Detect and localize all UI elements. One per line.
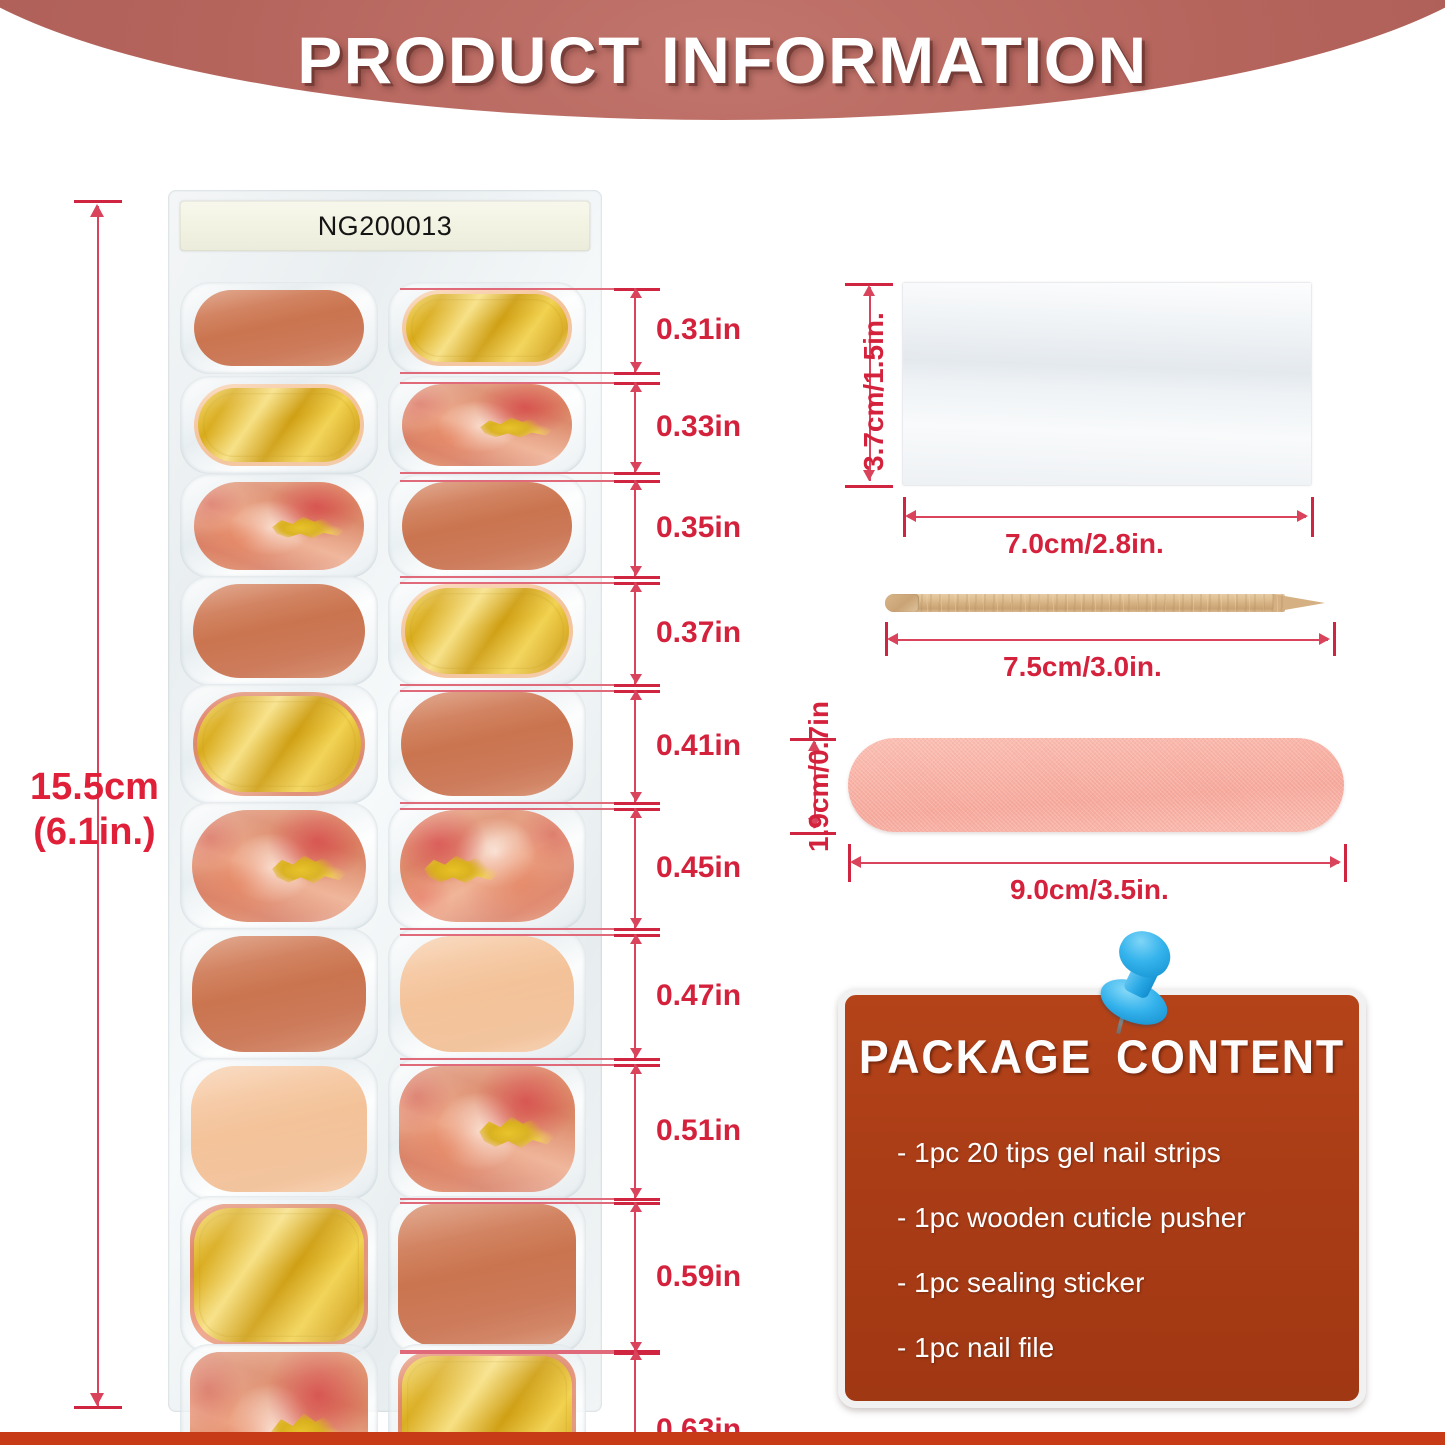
nail-strip-cell xyxy=(388,928,586,1060)
nail-strip xyxy=(400,936,574,1052)
strip-dimension: 0.51in xyxy=(634,1064,646,1198)
dimension-arrow-up-icon xyxy=(630,382,642,392)
dimension-arrow-down-icon xyxy=(630,1188,642,1198)
measurement-tick xyxy=(614,684,660,687)
strip-holder xyxy=(194,290,364,366)
height-arrow-down-icon xyxy=(90,1393,104,1406)
gold-foil-outline xyxy=(194,1208,364,1342)
nail-strip-cell xyxy=(388,684,586,804)
dimension-arrow-down-icon xyxy=(630,566,642,576)
nail-strip-cell xyxy=(180,282,378,374)
dimension-line xyxy=(634,690,636,802)
strip-holder xyxy=(192,936,366,1052)
nail-strip xyxy=(194,384,364,466)
gold-foil-outline xyxy=(405,588,569,674)
sticker-width-line xyxy=(908,516,1306,518)
pushpin-icon xyxy=(1089,932,1183,1036)
nail-strip xyxy=(194,290,364,366)
measurement-leader-line xyxy=(400,934,618,936)
nail-file-image xyxy=(848,738,1344,832)
measurement-leader-line xyxy=(400,808,618,810)
strip-dimension: 0.59in xyxy=(634,1202,646,1352)
strip-measurement-label: 0.47in xyxy=(656,979,741,1013)
package-content-card: PACKAGE CONTENT - 1pc 20 tips gel nail s… xyxy=(838,988,1366,1408)
strip-holder xyxy=(401,692,573,796)
pusher-bevel-end xyxy=(885,594,919,612)
nail-strip-cell xyxy=(388,474,586,578)
page-title: PRODUCT INFORMATION xyxy=(0,0,1445,120)
nail-strip-cell xyxy=(388,576,586,686)
measurement-leader-line xyxy=(400,372,618,374)
strip-dimension: 0.45in xyxy=(634,808,646,928)
strip-measurement-label: 0.41in xyxy=(656,729,741,763)
dimension-arrow-up-icon xyxy=(630,288,642,298)
nail-strip xyxy=(193,692,365,796)
file-arrow-left-icon xyxy=(850,856,861,868)
nail-strip xyxy=(194,482,364,570)
pusher-width-label: 7.5cm/3.0in. xyxy=(1003,651,1162,683)
strip-gloss xyxy=(194,290,364,366)
strip-holder xyxy=(402,290,572,366)
dimension-arrow-up-icon xyxy=(630,808,642,818)
measurement-tick xyxy=(614,802,660,805)
nail-strip-cell xyxy=(180,1196,378,1354)
dimension-arrow-down-icon xyxy=(630,362,642,372)
strip-holder xyxy=(401,584,573,678)
strip-dimension: 0.41in xyxy=(634,690,646,802)
product-information-infographic: PRODUCT INFORMATION 15.5cm (6.1in.) NG20… xyxy=(0,0,1445,1445)
gold-foil-outline xyxy=(197,696,361,792)
dimension-arrow-down-icon xyxy=(630,462,642,472)
nail-strip-cell xyxy=(388,1344,586,1445)
pusher-w-cap-right xyxy=(1333,622,1336,656)
strip-holder xyxy=(191,1066,367,1192)
package-content-list: - 1pc 20 tips gel nail strips- 1pc woode… xyxy=(897,1137,1337,1397)
pusher-arrow-right-icon xyxy=(1319,633,1330,645)
dimension-arrow-up-icon xyxy=(630,690,642,700)
dimension-arrow-down-icon xyxy=(630,1048,642,1058)
dimension-arrow-up-icon xyxy=(630,1202,642,1212)
strip-holder xyxy=(402,384,572,466)
nail-strip-cell xyxy=(180,576,378,686)
dimension-line xyxy=(634,808,636,928)
measurement-tick xyxy=(614,576,660,579)
product-code-label: NG200013 xyxy=(180,201,590,251)
pusher-arrow-left-icon xyxy=(887,633,898,645)
strip-measurement-label: 0.31in xyxy=(656,313,741,347)
strip-holder xyxy=(398,1204,576,1346)
gold-foil-flake xyxy=(269,844,349,896)
nail-strip-grid xyxy=(176,264,594,1404)
nail-strip-cell xyxy=(180,684,378,804)
strip-gloss xyxy=(192,936,366,1052)
nail-strip xyxy=(400,810,574,922)
nail-strip xyxy=(402,384,572,466)
dimension-line xyxy=(634,582,636,684)
strip-gloss xyxy=(398,1204,576,1346)
gold-foil-flake xyxy=(421,844,501,896)
measurement-leader-line xyxy=(400,1058,618,1060)
strip-dimension: 0.33in xyxy=(634,382,646,472)
dimension-arrow-down-icon xyxy=(630,792,642,802)
strip-gloss xyxy=(400,810,574,922)
dimension-arrow-up-icon xyxy=(630,1350,642,1360)
sticker-width-label: 7.0cm/2.8in. xyxy=(1005,528,1164,560)
file-height-label: 1.9cm/0.7in xyxy=(803,701,835,852)
measurement-tick xyxy=(614,928,660,931)
nail-strip-cell xyxy=(388,376,586,474)
measurement-leader-line xyxy=(400,802,618,804)
strip-gloss xyxy=(191,1066,367,1192)
dimension-line xyxy=(634,934,636,1058)
strip-gloss xyxy=(192,810,366,922)
measurement-leader-line xyxy=(400,1198,618,1200)
strip-holder xyxy=(190,1204,368,1346)
dimension-line xyxy=(634,480,636,576)
strip-measurement-label: 0.33in xyxy=(656,410,741,444)
strip-measurement-label: 0.59in xyxy=(656,1260,741,1294)
measurement-leader-line xyxy=(400,1202,618,1204)
strip-holder xyxy=(400,810,574,922)
dimension-line xyxy=(634,1350,636,1445)
pushpin-head xyxy=(1112,923,1178,985)
nail-strip xyxy=(402,290,572,366)
measurement-leader-line xyxy=(400,382,618,384)
sticker-arrow-down-icon xyxy=(863,470,875,481)
strip-holder xyxy=(399,1066,575,1192)
footer-bar xyxy=(0,1432,1445,1445)
nail-strip xyxy=(190,1204,368,1346)
nail-strip-cell xyxy=(180,802,378,930)
package-content-item: - 1pc sealing sticker xyxy=(897,1267,1337,1299)
measurement-leader-line xyxy=(400,576,618,578)
height-cap-bottom xyxy=(74,1406,122,1409)
measurement-leader-line xyxy=(400,288,618,290)
strip-holder xyxy=(192,810,366,922)
strip-holder xyxy=(402,482,572,570)
pusher-width-line xyxy=(890,639,1328,641)
dimension-line xyxy=(634,1202,636,1352)
nail-strip xyxy=(399,1066,575,1192)
nail-strip xyxy=(191,1066,367,1192)
nail-strip-cell xyxy=(388,1196,586,1354)
nail-strip xyxy=(192,936,366,1052)
strip-measurement-label: 0.37in xyxy=(656,616,741,650)
measurement-leader-line xyxy=(400,928,618,930)
sticker-w-cap-right xyxy=(1311,497,1314,537)
sticker-arrow-right-icon xyxy=(1297,510,1308,522)
strip-dimension: 0.37in xyxy=(634,582,646,684)
nail-strip-cell xyxy=(388,1058,586,1200)
nail-strip xyxy=(401,692,573,796)
nail-file-grit-texture xyxy=(848,738,1344,832)
dimension-arrow-up-icon xyxy=(630,1064,642,1074)
nail-strip-cell xyxy=(180,1344,378,1445)
cuticle-pusher-image xyxy=(885,590,1325,616)
package-content-item: - 1pc wooden cuticle pusher xyxy=(897,1202,1337,1234)
dimension-arrow-up-icon xyxy=(630,582,642,592)
measurement-leader-line xyxy=(400,684,618,686)
strip-dimension: 0.47in xyxy=(634,934,646,1058)
dimension-line xyxy=(634,1064,636,1198)
dimension-arrow-up-icon xyxy=(630,934,642,944)
package-content-title: PACKAGE CONTENT xyxy=(858,1029,1346,1084)
sticker-arrow-up-icon xyxy=(863,285,875,296)
measurement-leader-line xyxy=(400,472,618,474)
measurement-leader-line xyxy=(400,582,618,584)
gold-foil-outline xyxy=(406,294,568,362)
strip-holder xyxy=(194,482,364,570)
strip-holder xyxy=(194,384,364,466)
nail-strip-cell xyxy=(388,802,586,930)
measurement-tick xyxy=(614,1198,660,1201)
strip-holder xyxy=(193,692,365,796)
nail-strip xyxy=(193,584,365,678)
strip-gloss xyxy=(193,584,365,678)
sticker-h-cap-bottom xyxy=(845,485,893,488)
sticker-arrow-left-icon xyxy=(905,510,916,522)
strip-gloss xyxy=(402,384,572,466)
dimension-line xyxy=(634,288,636,372)
package-content-item: - 1pc nail file xyxy=(897,1332,1337,1364)
strip-dimension: 0.31in xyxy=(634,288,646,372)
strip-dimension: 0.63in xyxy=(634,1350,646,1445)
nail-strip-cell xyxy=(180,474,378,578)
nail-strip xyxy=(401,584,573,678)
gold-foil-flake xyxy=(476,1104,557,1162)
dimension-arrow-down-icon xyxy=(630,918,642,928)
gold-foil-outline xyxy=(198,388,360,462)
height-arrow-up-icon xyxy=(90,204,104,217)
gold-foil-flake xyxy=(477,409,555,447)
nail-strip-cell xyxy=(180,928,378,1060)
sticker-height-label: 3.7cm/1.5in. xyxy=(858,312,890,471)
sealing-sticker-image xyxy=(903,283,1311,485)
strip-measurement-label: 0.45in xyxy=(656,851,741,885)
nail-strip-cell xyxy=(180,1058,378,1200)
measurement-leader-line xyxy=(400,1064,618,1066)
package-content-item: - 1pc 20 tips gel nail strips xyxy=(897,1137,1337,1169)
strip-measurement-label: 0.35in xyxy=(656,511,741,545)
measurement-tick xyxy=(614,1058,660,1061)
measurement-leader-line xyxy=(400,690,618,692)
height-cap-top xyxy=(74,200,122,203)
measurement-leader-line xyxy=(400,1350,618,1352)
file-arrow-right-icon xyxy=(1330,856,1341,868)
nail-strip-cell xyxy=(180,376,378,474)
pusher-wood-grain xyxy=(885,594,1285,612)
file-w-cap-right xyxy=(1344,844,1347,882)
strip-gloss xyxy=(402,482,572,570)
strip-dimension: 0.35in xyxy=(634,480,646,576)
dimension-arrow-down-icon xyxy=(630,674,642,684)
measurement-leader-line xyxy=(400,480,618,482)
dimension-arrow-up-icon xyxy=(630,480,642,490)
measurement-tick xyxy=(614,472,660,475)
strip-gloss xyxy=(194,482,364,570)
measurement-leader-line xyxy=(400,1352,618,1354)
gold-foil-flake xyxy=(269,508,347,548)
strip-gloss xyxy=(399,1066,575,1192)
file-width-line xyxy=(853,862,1339,864)
strip-holder xyxy=(400,936,574,1052)
nail-strip-cell xyxy=(388,282,586,374)
nail-strip xyxy=(192,810,366,922)
strip-measurement-label: 0.51in xyxy=(656,1114,741,1148)
measurement-tick xyxy=(614,372,660,375)
dimension-line xyxy=(634,382,636,472)
total-height-label: 15.5cm (6.1in.) xyxy=(30,765,159,855)
strip-gloss xyxy=(401,692,573,796)
nail-strip xyxy=(402,482,572,570)
strip-holder xyxy=(193,584,365,678)
file-width-label: 9.0cm/3.5in. xyxy=(1010,874,1169,906)
strip-gloss xyxy=(400,936,574,1052)
nail-strip xyxy=(398,1204,576,1346)
